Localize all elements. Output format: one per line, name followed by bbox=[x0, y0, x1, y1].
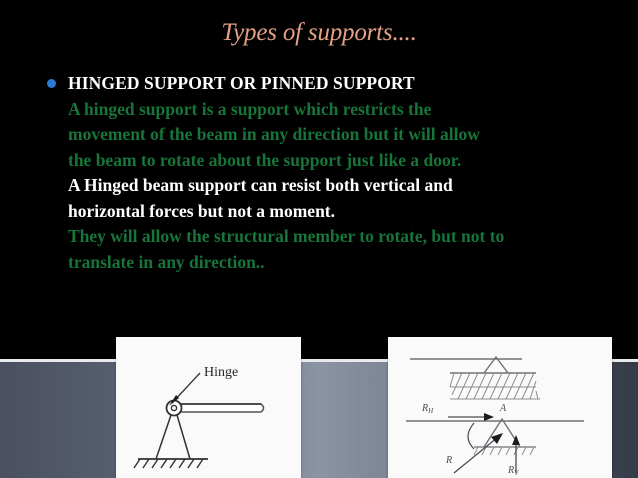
presentation-slide: Types of supports.... HINGED SUPPORT OR … bbox=[0, 0, 638, 478]
label-vertical-reaction: RV bbox=[507, 465, 519, 477]
body-line-1: A hinged support is a support which rest… bbox=[68, 97, 624, 123]
body-line-6: They will allow the structural member to… bbox=[68, 224, 624, 250]
pinned-support-image: RH A R RV bbox=[388, 337, 612, 478]
slide-body: HINGED SUPPORT OR PINNED SUPPORT A hinge… bbox=[44, 71, 624, 275]
body-line-3: the beam to rotate about the support jus… bbox=[68, 148, 624, 174]
hinge-label: Hinge bbox=[204, 365, 238, 380]
bullet-heading: HINGED SUPPORT OR PINNED SUPPORT bbox=[68, 71, 624, 97]
label-horizontal-reaction: RH bbox=[421, 403, 434, 415]
body-line-4: A Hinged beam support can resist both ve… bbox=[68, 173, 624, 199]
bullet-list-item: HINGED SUPPORT OR PINNED SUPPORT A hinge… bbox=[44, 71, 624, 275]
body-line-7: translate in any direction.. bbox=[68, 250, 624, 276]
hinge-support-image: Hinge bbox=[116, 337, 301, 478]
body-line-5: horizontal forces but not a moment. bbox=[68, 199, 624, 225]
bullet-dot-icon bbox=[47, 79, 56, 88]
label-point-a: A bbox=[499, 403, 507, 414]
hinge-support-diagram: Hinge bbox=[116, 337, 301, 478]
label-resultant: R bbox=[445, 455, 452, 466]
pinned-support-reactions-diagram: RH A R RV bbox=[388, 337, 612, 478]
body-line-2: movement of the beam in any direction bu… bbox=[68, 122, 624, 148]
page-title: Types of supports.... bbox=[0, 18, 638, 48]
